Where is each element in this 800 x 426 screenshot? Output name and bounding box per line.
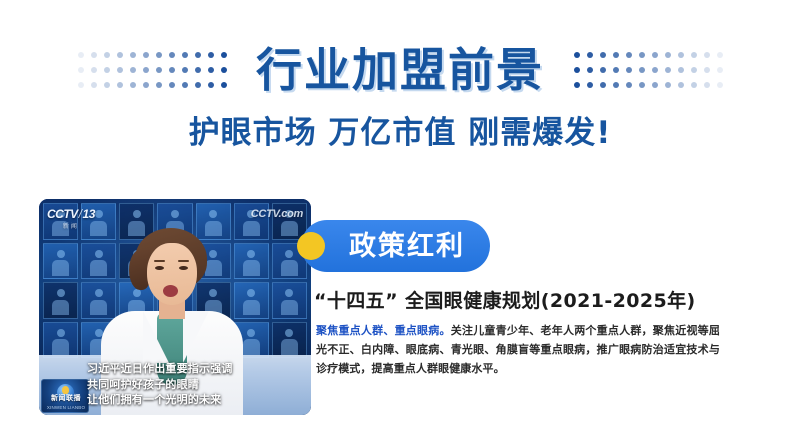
news-program-pinyin: XINWEN LIANBO (42, 405, 89, 410)
policy-body-highlight: 聚焦重点人群、重点眼病。 (316, 324, 451, 337)
policy-badge-label: 政策红利 (349, 233, 465, 260)
cctv-channel-number: 13 (83, 207, 95, 221)
news-program-badge: 新闻联播 XINWEN LIANBO (41, 379, 89, 413)
page-subtitle: 护眼市场 万亿市值 刚需爆发! (0, 114, 800, 153)
policy-badge: 政策红利 (301, 220, 490, 272)
header-section: 行业加盟前景 护眼市场 万亿市值 刚需爆发! (0, 0, 800, 175)
cctv-website-watermark: CCTV.com (251, 208, 303, 220)
page-title: 行业加盟前景 (256, 47, 544, 93)
cctv-logo-separator: / (79, 207, 82, 221)
news-caption: 习近平近日作出重要指示强调 共同呵护好孩子的眼睛 让他们拥有一个光明的未来 (87, 361, 303, 408)
cctv-logo-mark: CCTV (47, 207, 78, 221)
left-dot-decoration (74, 47, 230, 93)
right-dot-decoration (570, 47, 726, 93)
news-caption-line-3: 让他们拥有一个光明的未来 (87, 392, 303, 408)
cctv-channel-label: 新闻 (47, 224, 95, 230)
title-row: 行业加盟前景 (0, 34, 800, 106)
news-program-name: 新闻联播 (42, 393, 89, 403)
news-caption-line-2: 共同呵护好孩子的眼睛 (87, 377, 303, 393)
cctv-channel-logo: CCTV/13 新闻 (47, 206, 95, 230)
cctv-news-screenshot: CCTV/13 新闻 CCTV.com 新闻联播 XINWEN LIANBO 习… (39, 199, 311, 415)
policy-heading: “十四五” 全国眼健康规划(2021-2025年) (314, 286, 696, 313)
policy-body: 聚焦重点人群、重点眼病。关注儿童青少年、老年人两个重点人群，聚焦近视等屈光不正、… (316, 322, 720, 379)
promo-page: 行业加盟前景 护眼市场 万亿市值 刚需爆发! (0, 0, 800, 426)
news-caption-line-1: 习近平近日作出重要指示强调 (87, 361, 303, 377)
policy-badge-dot-icon (297, 232, 325, 260)
